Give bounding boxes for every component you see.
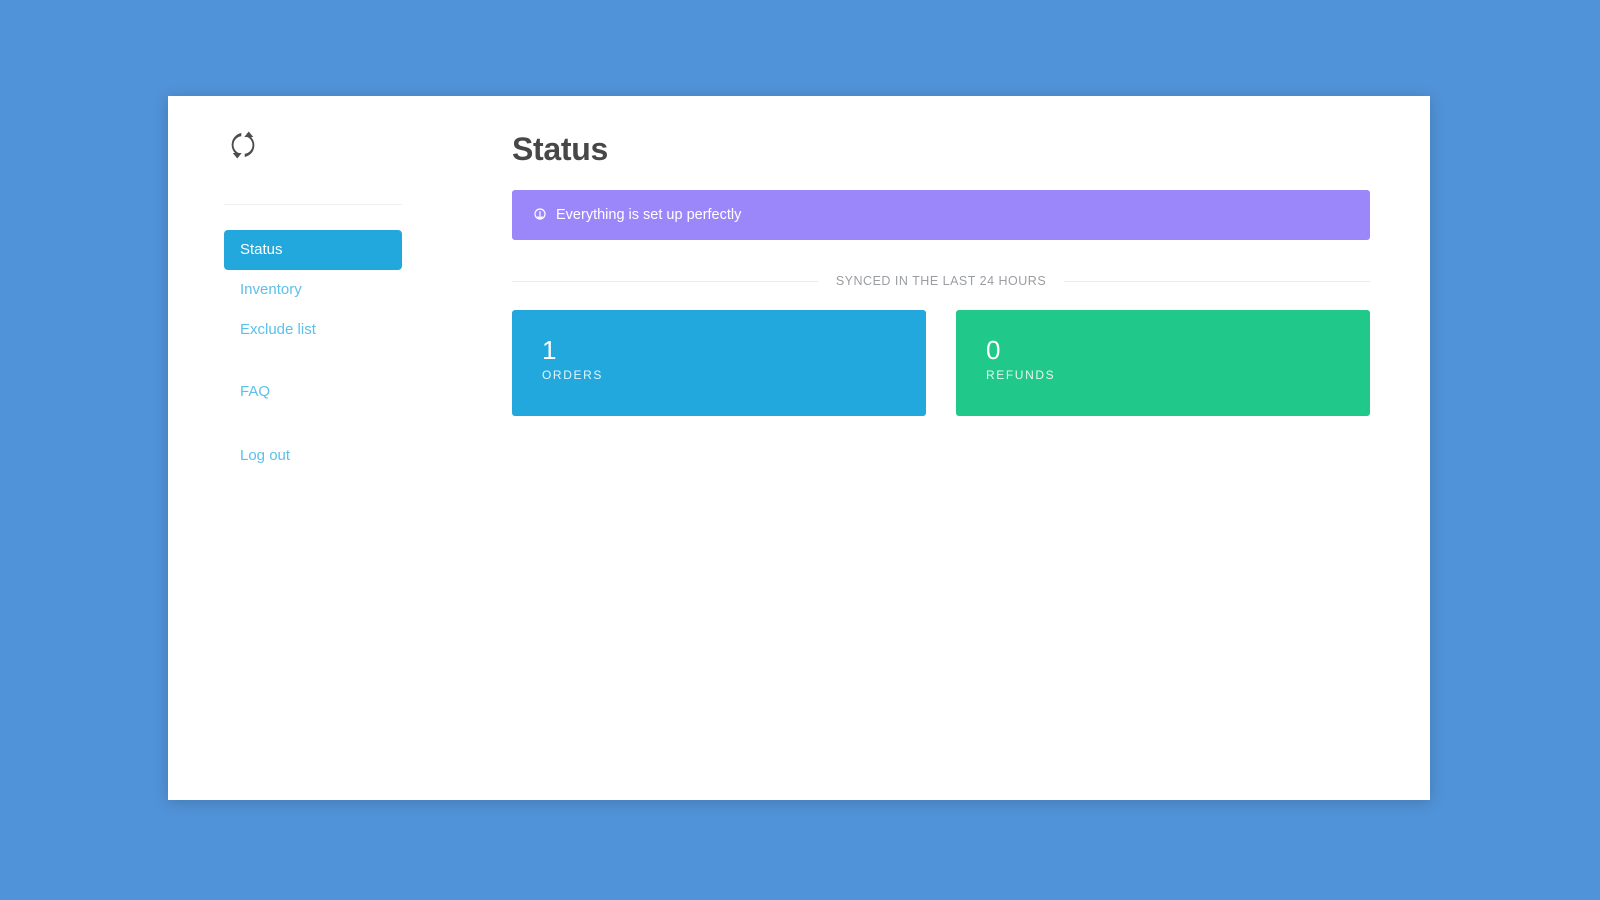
sidebar-item-inventory[interactable]: Inventory <box>224 270 402 310</box>
sidebar-divider <box>224 204 402 205</box>
stat-value-orders: 1 <box>542 336 926 364</box>
sidebar-nav: Status Inventory Exclude list FAQ Log ou… <box>192 230 434 476</box>
status-banner: Everything is set up perfectly <box>512 190 1370 240</box>
sidebar-item-log-out[interactable]: Log out <box>224 436 402 476</box>
sidebar-item-faq[interactable]: FAQ <box>224 372 402 412</box>
stat-card-orders: 1 ORDERS <box>512 310 926 416</box>
app-panel: Status Inventory Exclude list FAQ Log ou… <box>168 96 1430 800</box>
sidebar-item-exclude-list[interactable]: Exclude list <box>224 310 402 350</box>
main-content: Status Everything is set up perfectly SY… <box>458 96 1430 800</box>
page-title: Status <box>512 130 1370 168</box>
logo <box>192 96 434 194</box>
sync-arrows-icon <box>224 126 262 164</box>
divider-rule-right <box>1064 281 1370 282</box>
sidebar-item-status[interactable]: Status <box>224 230 402 270</box>
stat-value-refunds: 0 <box>986 336 1370 364</box>
synced-divider-label: SYNCED IN THE LAST 24 HOURS <box>818 274 1064 288</box>
stat-label-orders: ORDERS <box>542 368 926 382</box>
stat-cards: 1 ORDERS 0 REFUNDS <box>512 310 1370 416</box>
synced-divider: SYNCED IN THE LAST 24 HOURS <box>512 274 1370 288</box>
divider-rule-left <box>512 281 818 282</box>
stat-label-refunds: REFUNDS <box>986 368 1370 382</box>
nav-spacer <box>224 350 402 372</box>
status-banner-message: Everything is set up perfectly <box>556 207 741 223</box>
cloud-download-icon <box>532 207 548 223</box>
nav-spacer <box>224 412 402 436</box>
sidebar: Status Inventory Exclude list FAQ Log ou… <box>168 96 458 800</box>
stat-card-refunds: 0 REFUNDS <box>956 310 1370 416</box>
